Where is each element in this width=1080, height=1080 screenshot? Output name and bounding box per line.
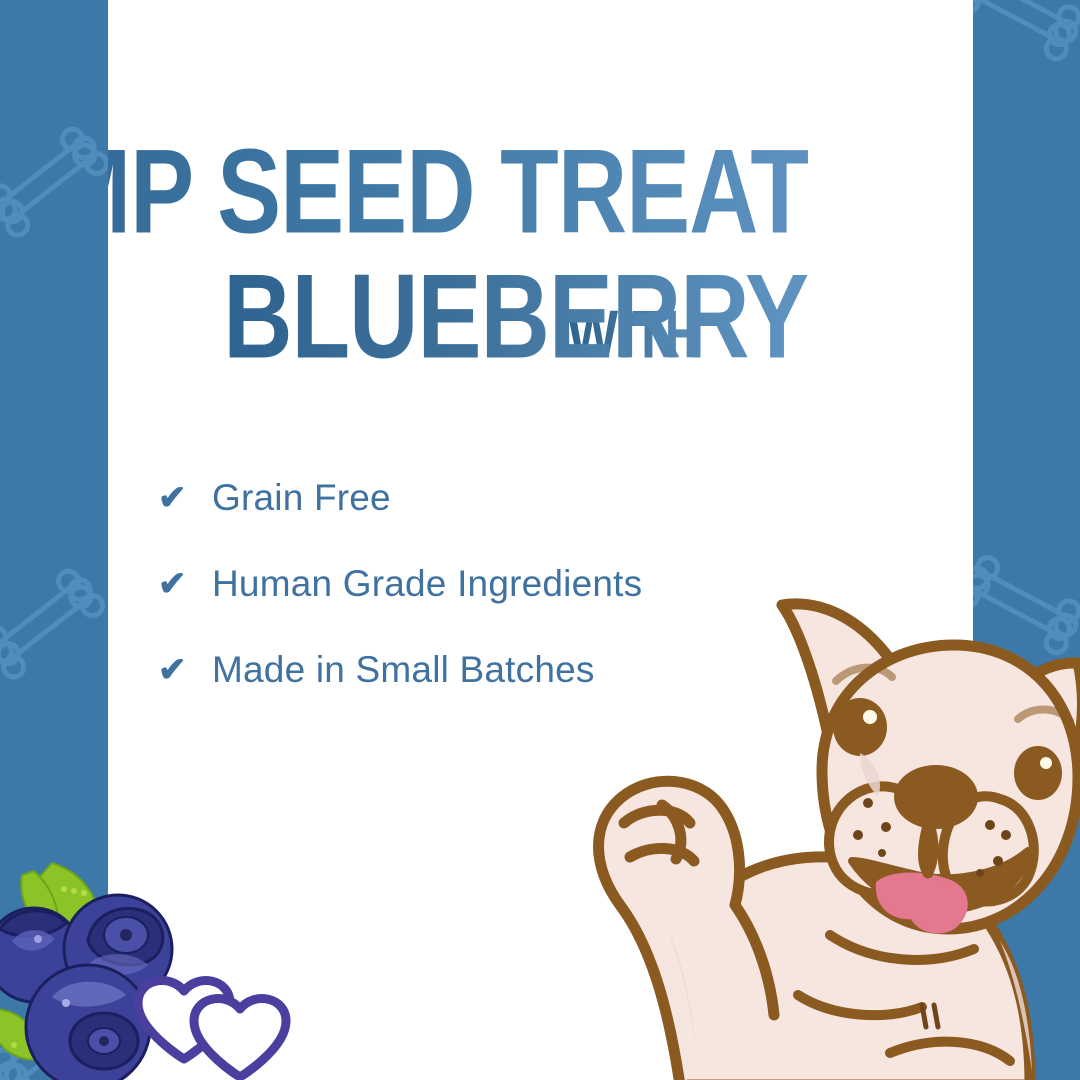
heart-front	[194, 999, 286, 1077]
bone-icon	[973, 552, 1080, 656]
dog-chest-ticks	[922, 1005, 938, 1027]
double-heart	[138, 981, 286, 1077]
check-icon: ✔	[150, 481, 212, 515]
left-blue-band	[0, 0, 108, 1080]
dog-philtrum	[924, 825, 929, 873]
dog-left-eye-highlight	[863, 710, 877, 724]
check-icon: ✔	[150, 653, 212, 687]
feature-label: Made in Small Batches	[212, 649, 595, 691]
bone-icon	[0, 565, 107, 681]
dog-tongue	[878, 875, 966, 932]
heart-back	[138, 981, 230, 1059]
dog-muzzle-left	[829, 786, 934, 894]
feature-label: Grain Free	[212, 477, 391, 519]
dog-nose	[894, 765, 978, 829]
poster-canvas: HEMP SEED TREAT WITH BLUEBERRY ✔ Grain F…	[0, 0, 1080, 1080]
feature-label: Human Grade Ingredients	[212, 563, 642, 605]
headline-blueberry-word: BLUEBERRY	[223, 250, 808, 370]
dog-paw-toes	[624, 805, 694, 861]
list-item: ✔ Grain Free	[150, 455, 850, 541]
right-blue-band	[973, 0, 1080, 1080]
check-icon: ✔	[150, 567, 212, 601]
headline-block: HEMP SEED TREAT WITH BLUEBERRY	[108, 140, 808, 370]
feature-list: ✔ Grain Free ✔ Human Grade Ingredients ✔…	[150, 455, 850, 713]
headline-svg: HEMP SEED TREAT WITH BLUEBERRY	[108, 140, 808, 370]
right-band-bone-pattern	[973, 0, 1080, 1080]
bone-icon	[0, 987, 108, 1080]
headline-line-1: HEMP SEED TREAT	[108, 140, 808, 259]
list-item: ✔ Human Grade Ingredients	[150, 541, 850, 627]
left-band-bone-pattern	[0, 0, 108, 1080]
list-item: ✔ Made in Small Batches	[150, 627, 850, 713]
bone-icon	[0, 123, 108, 239]
bone-icon	[973, 0, 1080, 62]
dog-raised-arm	[599, 781, 775, 1080]
